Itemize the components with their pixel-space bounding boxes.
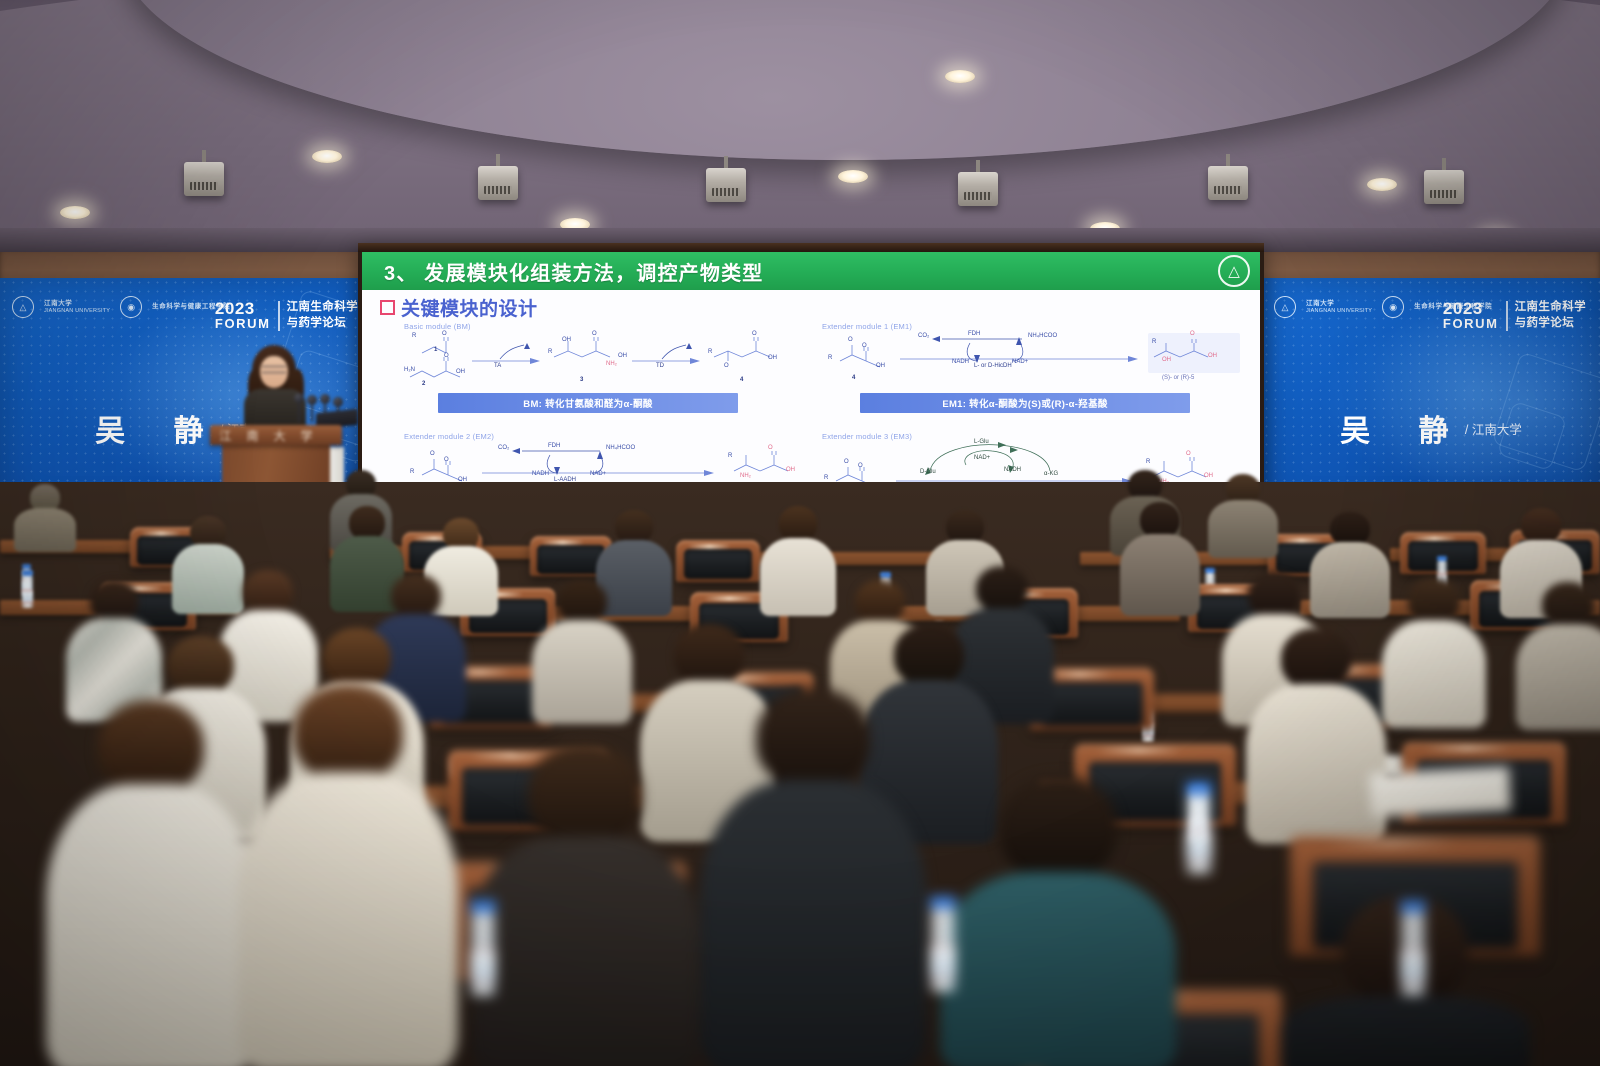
downlight: [1367, 178, 1397, 191]
glasses-icon: [261, 366, 287, 373]
attendee-torso: [760, 538, 836, 616]
module-pill-bm: BM: 转化甘氨酸和醛为α-酮酸: [438, 393, 738, 413]
attendee-head: [1140, 502, 1180, 538]
attendee-head: [349, 506, 385, 540]
forum-title-block: 江南生命科学 与药学论坛: [287, 300, 358, 330]
attendee-head: [1542, 582, 1594, 628]
attendee-head: [1248, 572, 1300, 618]
podium-top: 江 南 大 学: [210, 425, 342, 445]
slide-module-em1: Extender module 1 (EM1): [822, 322, 1242, 413]
cofactor-nad: NAD+: [590, 471, 606, 477]
attendee: [1208, 474, 1278, 556]
forum-year: 2023: [1443, 300, 1499, 317]
attendee: [1382, 578, 1486, 726]
university-name-en: JIANGNAN UNIVERSITY: [1306, 308, 1372, 314]
attendee-head: [557, 580, 607, 624]
compound-number: 4: [740, 377, 743, 383]
cofactor-nad: NAD+: [1012, 359, 1028, 365]
reaction-scheme-em1: R O O OH CO₂ FDH NH₄HCOO NADH NAD+ L- or…: [822, 331, 1242, 389]
cofactor-nh4hcoo: NH₄HCOO: [1028, 333, 1057, 339]
handout-paper: [1369, 766, 1511, 817]
speaker-affiliation-text: 江南大学: [1472, 423, 1522, 437]
enzyme-label-hicdh: L- or D-HicDH: [974, 363, 1012, 369]
water-bottle: [1186, 782, 1212, 874]
school-emblem-icon: ◉: [120, 296, 142, 318]
attendee-torso: [1280, 996, 1530, 1066]
attendee: [760, 506, 836, 614]
attendee-head: [1330, 512, 1370, 546]
slide-title: 3、 发展模块化组装方法，调控产物类型: [384, 257, 763, 286]
university-name-cn: 江南大学: [1306, 300, 1372, 308]
attendee-torso: [1208, 500, 1278, 558]
attendee-head: [391, 574, 441, 618]
attendee-torso: [1516, 624, 1600, 730]
university-logo-text: 江南大学 JIANGNAN UNIVERSITY: [44, 300, 110, 315]
forum-title-line2: 与药学论坛: [1515, 316, 1586, 331]
forum-logo-left: 2023 FORUM 江南生命科学 与药学论坛: [215, 300, 358, 331]
speaker-separator: /: [1465, 423, 1468, 437]
attendee-head: [323, 628, 391, 688]
led-logo-group-left: △ 江南大学 JIANGNAN UNIVERSITY ◉ 生命科学与健康工程学院: [12, 296, 230, 318]
ceiling-spotlight: [1424, 170, 1464, 204]
attendee-torso: [472, 836, 698, 1066]
attendee: [700, 688, 926, 1066]
water-bottle: [22, 570, 33, 608]
compound-number: 2: [422, 381, 425, 387]
cofactor-nad: NAD+: [974, 455, 990, 461]
attendee: [1246, 628, 1386, 840]
attendee: [238, 684, 458, 1066]
compound-number: 1: [434, 347, 437, 353]
slide-module-bm: Basic module (BM): [404, 322, 784, 413]
forum-logo-right: 2023 FORUM 江南生命科学 与药学论坛: [1443, 300, 1586, 331]
enzyme-label-td: TD: [656, 363, 664, 369]
attendee-torso: [1120, 534, 1200, 616]
attendee-torso: [532, 620, 632, 724]
attendee-head: [1521, 508, 1561, 544]
university-logo-text: 江南大学 JIANGNAN UNIVERSITY: [1306, 300, 1372, 315]
cofactor-fdh: FDH: [548, 443, 560, 449]
attendee-head: [168, 636, 234, 694]
cofactor-co2: CO₂: [918, 333, 929, 339]
forum-year-block: 2023 FORUM: [1443, 300, 1499, 331]
attendee-torso: [1382, 620, 1486, 728]
attendee: [532, 580, 632, 722]
attendee-head: [98, 700, 204, 794]
enzyme-label-ta: TA: [494, 363, 501, 369]
university-emblem-icon: △: [12, 296, 34, 318]
university-emblem-icon: △: [1218, 255, 1250, 287]
attendee-head: [90, 580, 138, 622]
slide-subtitle: 关键模块的设计: [401, 294, 538, 321]
forum-title-line1: 江南生命科学: [1515, 300, 1586, 315]
university-emblem-icon: △: [1274, 296, 1296, 318]
slide-title-bar: 3、 发展模块化组装方法，调控产物类型 △: [362, 252, 1260, 290]
speaker-affiliation: / 江南大学: [1465, 419, 1522, 438]
forum-title-block: 江南生命科学 与药学论坛: [1515, 300, 1586, 330]
downlight: [60, 206, 90, 219]
attendee-head: [674, 624, 744, 686]
attendee: [940, 776, 1176, 1066]
downlight: [838, 170, 868, 183]
attendee-torso: [1246, 684, 1386, 844]
attendee-torso: [46, 784, 256, 1066]
slide-subtitle-row: 关键模块的设计: [380, 294, 538, 321]
forum-title-line1: 江南生命科学: [287, 300, 358, 315]
cofactor-nadh: NADH: [952, 359, 969, 365]
attendee-head: [243, 570, 293, 614]
attendee-head: [615, 510, 653, 544]
reaction-scheme-bm: R O H₂N OH O R OH O NH₂ OH R O O OH TA T…: [404, 331, 784, 389]
attendee-torso: [14, 508, 76, 552]
attendee-head: [1281, 628, 1351, 690]
module-label: Basic module (BM): [404, 322, 784, 331]
cofactor-nadh: NADH: [1004, 467, 1021, 473]
ceiling-spotlight: [958, 172, 998, 206]
water-bottle: [1400, 900, 1426, 996]
ceiling-spotlight: [184, 162, 224, 196]
forum-divider: [278, 301, 280, 331]
attendee: [472, 744, 698, 1066]
speaker-name: 吴 静: [95, 406, 223, 450]
forum-word: FORUM: [1443, 317, 1499, 331]
cofactor-fdh: FDH: [968, 331, 980, 337]
attendee: [1516, 582, 1600, 728]
cofactor-d-glu: D-Glu: [920, 469, 936, 475]
module-pill-em1: EM1: 转化α-酮酸为(S)或(R)-α-羟基酸: [860, 393, 1190, 413]
forum-title-line2: 与药学论坛: [287, 316, 358, 331]
attendee-head: [1408, 578, 1460, 624]
stereo-label: (S)- or (R)-5: [1162, 375, 1194, 381]
ceiling-spotlight: [706, 168, 746, 202]
auditorium-photo: △ 江南大学 JIANGNAN UNIVERSITY ◉ 生命科学与健康工程学院…: [0, 0, 1600, 1066]
attendee-head: [293, 684, 403, 782]
attendee: [1120, 502, 1200, 614]
led-banner-right: △ 江南大学 JIANGNAN UNIVERSITY ◉ 生命科学与健康工程学院…: [1262, 278, 1600, 516]
cofactor-akg: α-KG: [1044, 471, 1058, 477]
attendee-head: [855, 580, 905, 624]
module-label: Extender module 1 (EM1): [822, 322, 1242, 331]
ceiling-spotlight: [478, 166, 518, 200]
attendee-torso: [238, 772, 458, 1066]
compound-number: 3: [580, 377, 583, 383]
cofactor-l-glu: L-Glu: [974, 439, 989, 445]
water-bottle: [470, 900, 496, 996]
downlight: [945, 70, 975, 83]
attendee-head: [999, 776, 1117, 880]
attendee-head: [756, 688, 870, 788]
chair: [676, 540, 760, 582]
attendee-head: [528, 744, 642, 844]
bullet-square-icon: [380, 300, 395, 315]
attendee-head: [779, 506, 817, 542]
forum-divider: [1506, 301, 1508, 331]
attendee: [14, 484, 76, 548]
forum-year-block: 2023 FORUM: [215, 300, 271, 331]
speaker-name: 吴 静: [1340, 406, 1468, 450]
attendee-head: [894, 624, 964, 686]
microphone-stem: [311, 404, 313, 422]
university-name-en: JIANGNAN UNIVERSITY: [44, 308, 110, 314]
module-label: Extender module 3 (EM3): [822, 432, 1242, 441]
podium-calligraphy: 江 南 大 学: [210, 427, 328, 444]
downlight: [312, 150, 342, 163]
microphone-stem: [298, 402, 300, 422]
attendee: [46, 700, 256, 1066]
attendee-head: [976, 566, 1028, 612]
cofactor-nadh: NADH: [532, 471, 549, 477]
speaker-nameplate-right: 吴 静 / 江南大学: [1262, 406, 1600, 450]
attendee-torso: [940, 872, 1176, 1066]
attendee-torso: [700, 780, 926, 1066]
forum-year: 2023: [215, 300, 271, 317]
ceiling-spotlight: [1208, 166, 1248, 200]
compound-number: 4: [852, 375, 855, 381]
ceiling: [0, 0, 1600, 238]
school-emblem-icon: ◉: [1382, 296, 1404, 318]
university-name-cn: 江南大学: [44, 300, 110, 308]
water-bottle: [930, 896, 956, 992]
module-label: Extender module 2 (EM2): [404, 432, 804, 441]
forum-word: FORUM: [215, 317, 271, 331]
attendee-head: [946, 510, 984, 544]
